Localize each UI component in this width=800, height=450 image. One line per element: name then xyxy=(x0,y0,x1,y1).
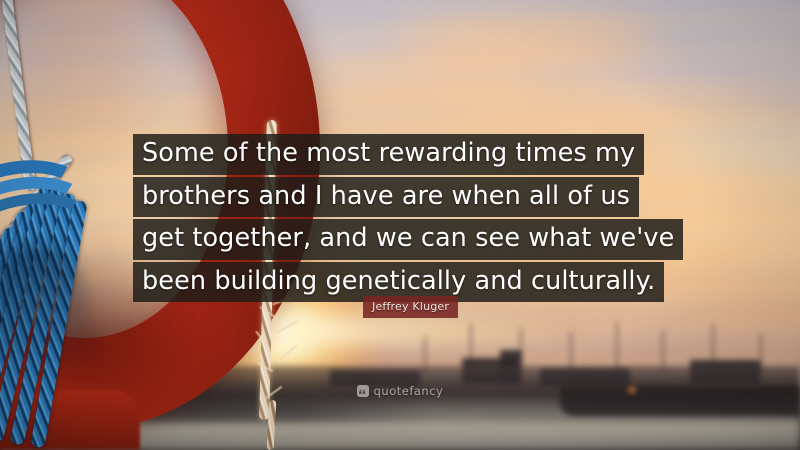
quote-mark-icon xyxy=(357,385,369,397)
rope-shadow xyxy=(0,245,90,445)
quotefancy-watermark[interactable]: quotefancy xyxy=(0,384,800,398)
author-attribution[interactable]: Jeffrey Kluger xyxy=(363,296,458,318)
quote-poster: Some of the most rewarding times my brot… xyxy=(0,0,800,450)
blue-coiled-rope xyxy=(0,185,150,450)
watermark-brand: quotefancy xyxy=(374,384,444,398)
quote-line: brothers and I have are when all of us xyxy=(133,177,639,218)
quote-line: Some of the most rewarding times my xyxy=(133,134,644,175)
quote-line: get together, and we can see what we've xyxy=(133,219,683,260)
quote-text-block: Some of the most rewarding times my brot… xyxy=(133,134,693,304)
